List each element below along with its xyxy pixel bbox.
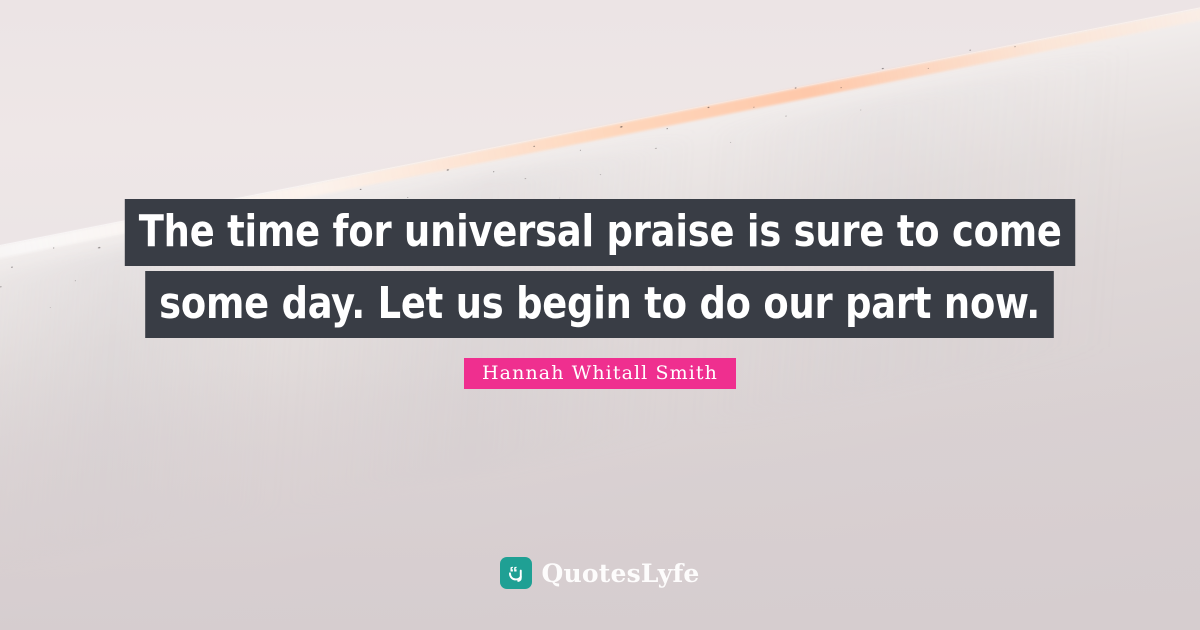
valley-haze [0,365,1200,630]
quote-block: The time for universal praise is sure to… [0,199,1200,338]
quote-smiley-icon [500,557,532,589]
author-block: Hannah Whitall Smith [0,358,1200,389]
brand-watermark[interactable]: QuotesLyfe [0,557,1200,589]
brand-name: QuotesLyfe [541,561,699,586]
quote-card: The time for universal praise is sure to… [0,0,1200,630]
quote-line-1: The time for universal praise is sure to… [125,199,1076,266]
quote-line-2: some day. Let us begin to do our part no… [146,271,1055,338]
author-name-badge: Hannah Whitall Smith [464,358,736,389]
